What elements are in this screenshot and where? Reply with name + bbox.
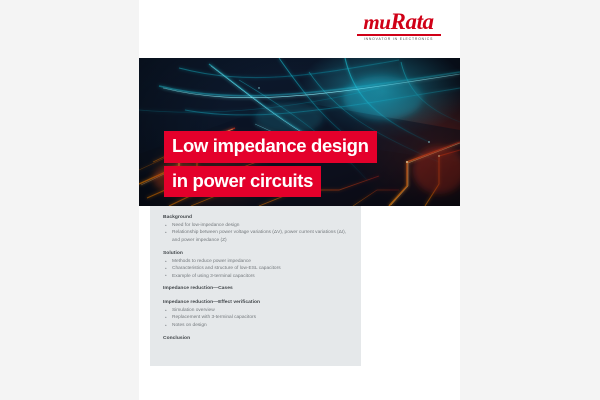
page-header: muRata INNOVATOR IN ELECTRONICS bbox=[139, 0, 460, 58]
toc-section-background: Background Need for low-impedance design… bbox=[163, 214, 349, 244]
toc-section-impedance-reduction-effect-verification: Impedance reduction—Effect verification … bbox=[163, 299, 349, 329]
toc-list-item: Relationship between power voltage varia… bbox=[163, 229, 349, 244]
table-of-contents-panel: Background Need for low-impedance design… bbox=[150, 206, 361, 366]
toc-heading: Impedance reduction—Effect verification bbox=[163, 299, 349, 307]
document-preview-canvas: muRata INNOVATOR IN ELECTRONICS bbox=[0, 0, 600, 400]
murata-wordmark: muRata bbox=[363, 11, 433, 33]
toc-list-item: Notes on design bbox=[163, 322, 349, 329]
toc-heading: Conclusion bbox=[163, 335, 349, 343]
murata-logo: muRata INNOVATOR IN ELECTRONICS bbox=[356, 11, 441, 41]
toc-section-solution: Solution Methods to reduce power impedan… bbox=[163, 250, 349, 280]
hero-image: Low impedance design in power circuits bbox=[139, 58, 460, 206]
toc-section-impedance-reduction-cases: Impedance reduction—Cases bbox=[163, 285, 349, 293]
toc-heading: Impedance reduction—Cases bbox=[163, 285, 349, 293]
toc-list: Simulation overview Replacement with 3-t… bbox=[163, 307, 349, 329]
toc-list: Need for low-impedance design Relationsh… bbox=[163, 222, 349, 244]
hero-title-line-2: in power circuits bbox=[164, 166, 321, 198]
toc-list-item: Characteristics and structure of low-ESL… bbox=[163, 265, 349, 272]
toc-section-conclusion: Conclusion bbox=[163, 335, 349, 343]
hero-title-block: Low impedance design in power circuits bbox=[164, 131, 444, 200]
toc-heading: Background bbox=[163, 214, 349, 222]
toc-list-item: Replacement with 3-terminal capacitors bbox=[163, 314, 349, 321]
murata-tagline: INNOVATOR IN ELECTRONICS bbox=[356, 37, 441, 41]
toc-list-item: Need for low-impedance design bbox=[163, 222, 349, 229]
brochure-page: muRata INNOVATOR IN ELECTRONICS bbox=[139, 0, 460, 400]
logo-prefix-text: mu bbox=[363, 10, 390, 34]
toc-list-item: Methods to reduce power impedance bbox=[163, 258, 349, 265]
toc-list-item: Example of using 3-terminal capacitors bbox=[163, 273, 349, 280]
hero-title-line-1: Low impedance design bbox=[164, 131, 377, 163]
toc-list-item: Simulation overview bbox=[163, 307, 349, 314]
logo-underline-rule bbox=[357, 34, 441, 36]
toc-list: Methods to reduce power impedance Charac… bbox=[163, 258, 349, 280]
logo-main-text: Rata bbox=[391, 9, 434, 34]
toc-heading: Solution bbox=[163, 250, 349, 258]
